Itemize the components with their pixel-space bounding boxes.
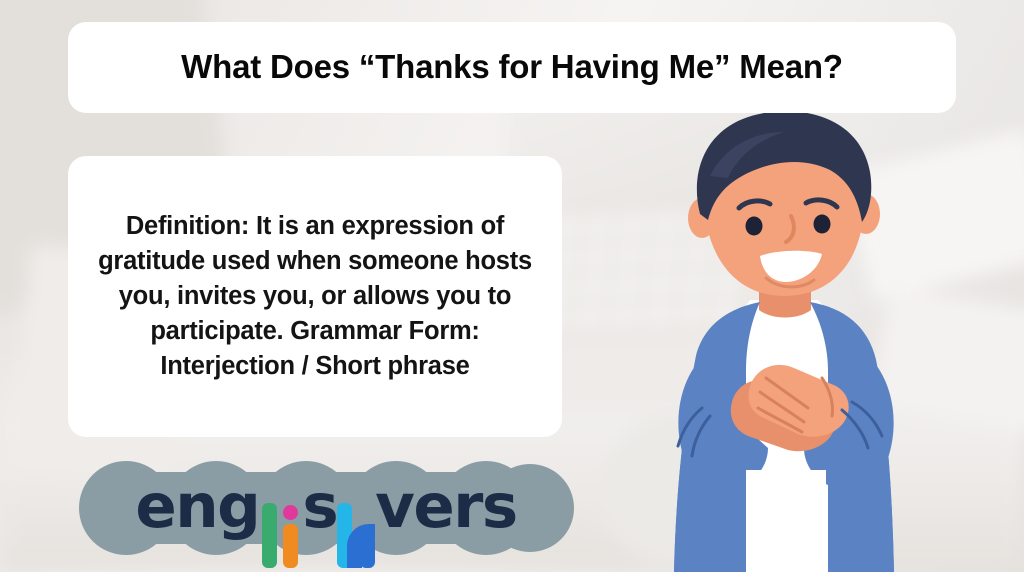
definition-text: Definition: It is an expression of grati… xyxy=(88,209,542,385)
infographic-canvas: What Does “Thanks for Having Me” Mean? D… xyxy=(0,0,1024,572)
title-card: What Does “Thanks for Having Me” Mean? xyxy=(68,22,956,113)
logo-text-vers: vers xyxy=(375,476,517,537)
logo-text-eng: eng xyxy=(135,476,259,537)
illustration-man-hands-on-chest xyxy=(600,110,940,572)
logo-letter-s: s xyxy=(302,476,337,537)
brand-logo[interactable]: eng s vers xyxy=(78,456,574,560)
definition-card: Definition: It is an expression of grati… xyxy=(68,156,562,437)
page-title: What Does “Thanks for Having Me” Mean? xyxy=(163,47,861,87)
logo-wordmark: eng s vers xyxy=(78,456,574,560)
